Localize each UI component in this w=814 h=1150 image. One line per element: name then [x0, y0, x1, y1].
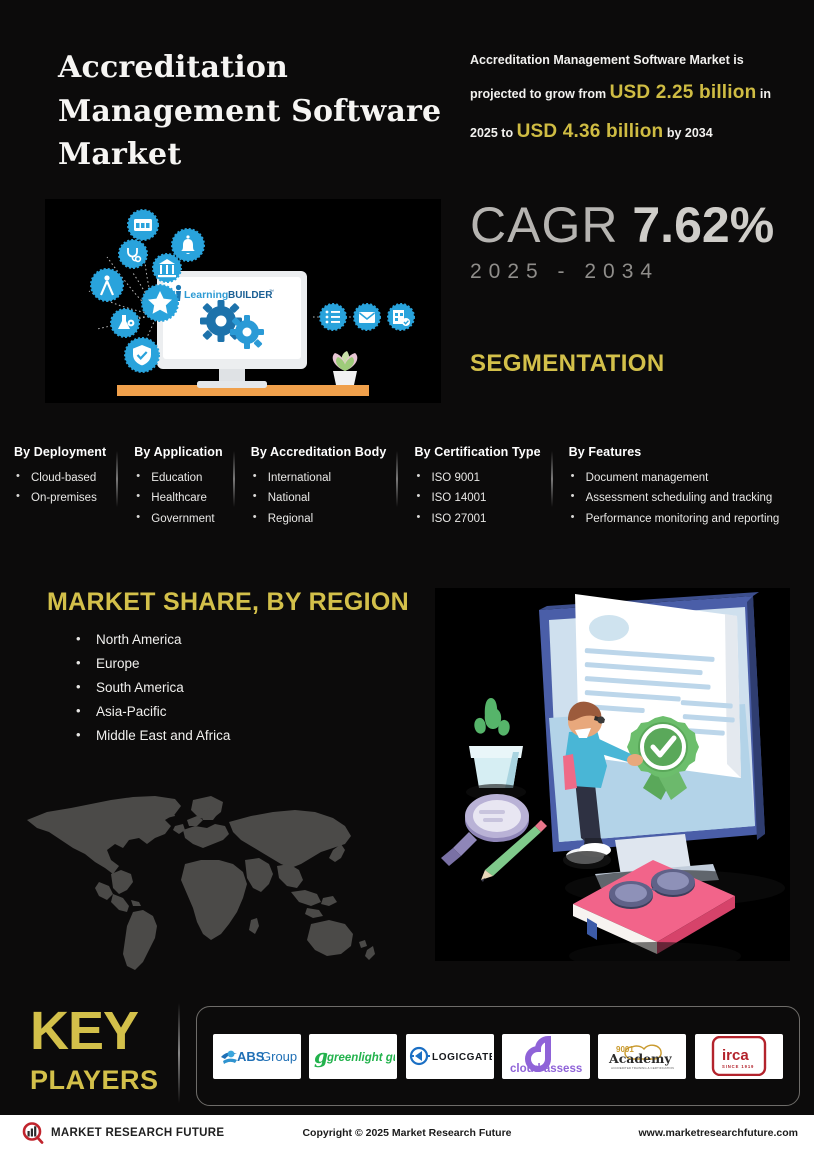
segmentation-column-accreditation-body: By Accreditation Body International Nati…	[233, 445, 397, 535]
footer-copyright: Copyright © 2025 Market Research Future	[302, 1127, 511, 1139]
segmentation-heading-label: By Features	[569, 445, 780, 459]
segmentation-item: ISO 27001	[414, 509, 540, 529]
logo-abs-group[interactable]: ABS Group	[213, 1034, 301, 1079]
key-players-line2: PLAYERS	[30, 1067, 180, 1094]
logo-abs-group-svg: ABS Group	[215, 1036, 299, 1076]
cagr-label: CAGR	[470, 197, 618, 253]
segmentation-item: ISO 9001	[414, 468, 540, 488]
footer-brand: MARKET RESEARCH FUTURE	[22, 1122, 224, 1144]
logo-irca[interactable]: irca SINCE 1919	[695, 1034, 783, 1079]
footer-bar: MARKET RESEARCH FUTURE Copyright © 2025 …	[0, 1115, 814, 1150]
logo-9001-academy-svg: 9001 Academy ACCREDITED TRAINING & CERTI…	[600, 1036, 684, 1076]
svg-text:Learning: Learning	[184, 289, 228, 301]
region-item: Middle East and Africa	[76, 724, 230, 748]
value-2034: USD 4.36 billion	[517, 121, 664, 142]
segmentation-item: National	[251, 488, 387, 508]
svg-text:Academy: Academy	[608, 1051, 672, 1066]
key-players-heading: KEY PLAYERS	[30, 1004, 180, 1094]
svg-text:ACCREDITED TRAINING & CERTIFIC: ACCREDITED TRAINING & CERTIFICATION	[611, 1066, 674, 1070]
market-value-blurb: Accreditation Management Software Market…	[470, 48, 792, 152]
footer-url[interactable]: www.marketresearchfuture.com	[638, 1127, 798, 1139]
segmentation-item: Regional	[251, 509, 387, 529]
monitor-base	[197, 381, 267, 388]
cagr-value: 7.62%	[632, 197, 774, 253]
logo-irca-svg: irca SINCE 1919	[697, 1036, 781, 1076]
learningbuilder-illustration: Learning BUILDER ™	[45, 199, 441, 403]
accreditation-illustration-svg	[435, 588, 790, 961]
segmentation-heading-label: By Deployment	[14, 445, 106, 459]
mrf-logo-icon	[22, 1122, 44, 1144]
svg-text:BUILDER: BUILDER	[228, 290, 273, 301]
monitor-neck	[219, 369, 245, 383]
segmentation-column-deployment: By Deployment Cloud-based On-premises	[14, 445, 116, 535]
segmentation-heading-label: By Accreditation Body	[251, 445, 387, 459]
svg-text:LOGICGATE: LOGICGATE	[432, 1052, 492, 1063]
market-share-heading: MARKET SHARE, BY REGION	[47, 588, 409, 617]
region-item: Europe	[76, 652, 230, 676]
logo-greenlight-guru[interactable]: g greenlight guru	[309, 1034, 397, 1079]
logo-cloud-assess[interactable]: cloud assess	[502, 1034, 590, 1079]
segmentation-item: Document management	[569, 468, 780, 488]
svg-text:greenlight guru: greenlight guru	[326, 1052, 395, 1064]
segmentation-item: Cloud-based	[14, 468, 106, 488]
segmentation-heading: SEGMENTATION	[470, 350, 665, 378]
logo-logicgate-svg: LOGICGATE	[408, 1036, 492, 1076]
key-players-line1: KEY	[30, 1004, 180, 1058]
svg-text:cloud assess: cloud assess	[510, 1063, 582, 1075]
svg-text:Group: Group	[261, 1049, 297, 1064]
logo-9001-academy[interactable]: 9001 Academy ACCREDITED TRAINING & CERTI…	[598, 1034, 686, 1079]
segmentation-row: By Deployment Cloud-based On-premises By…	[14, 445, 804, 535]
segmentation-item: ISO 14001	[414, 488, 540, 508]
blurb-part-3: by 2034	[663, 126, 712, 140]
cagr-years: 2025 - 2034	[470, 260, 774, 284]
key-players-divider	[178, 1003, 180, 1103]
segmentation-column-application: By Application Education Healthcare Gove…	[116, 445, 232, 535]
segmentation-item: International	[251, 468, 387, 488]
page-title: Accreditation Management Software Market	[58, 46, 458, 177]
svg-text:™: ™	[269, 289, 274, 295]
footer-brand-text: MARKET RESEARCH FUTURE	[51, 1127, 224, 1139]
region-item: Asia-Pacific	[76, 700, 230, 724]
world-map-svg	[15, 782, 415, 977]
segmentation-item: Healthcare	[134, 488, 222, 508]
segmentation-item: On-premises	[14, 488, 106, 508]
market-share-region-list: North America Europe South America Asia-…	[76, 628, 230, 748]
segmentation-heading-label: By Application	[134, 445, 222, 459]
cagr-block: CAGR 7.62% 2025 - 2034	[470, 200, 774, 284]
segmentation-item: Performance monitoring and reporting	[569, 509, 780, 529]
key-players-logo-box: ABS Group g greenlight guru LOGICGATE cl…	[196, 1006, 800, 1106]
svg-text:irca: irca	[722, 1047, 749, 1064]
segmentation-item: Government	[134, 509, 222, 529]
logo-logicgate[interactable]: LOGICGATE	[406, 1034, 494, 1079]
segmentation-heading-label: By Certification Type	[414, 445, 540, 459]
world-map	[15, 782, 415, 977]
segmentation-column-features: By Features Document management Assessme…	[551, 445, 790, 535]
svg-text:g: g	[314, 1044, 328, 1068]
logo-greenlight-guru-svg: g greenlight guru	[311, 1036, 395, 1076]
svg-text:SINCE 1919: SINCE 1919	[722, 1064, 754, 1069]
segmentation-item: Assessment scheduling and tracking	[569, 488, 780, 508]
accreditation-illustration	[435, 588, 790, 961]
value-2025: USD 2.25 billion	[610, 82, 757, 103]
region-item: North America	[76, 628, 230, 652]
logo-cloud-assess-svg: cloud assess	[504, 1036, 588, 1076]
learningbuilder-illustration-svg: Learning BUILDER ™	[45, 199, 441, 403]
segmentation-column-certification-type: By Certification Type ISO 9001 ISO 14001…	[396, 445, 550, 535]
region-item: South America	[76, 676, 230, 700]
segmentation-item: Education	[134, 468, 222, 488]
